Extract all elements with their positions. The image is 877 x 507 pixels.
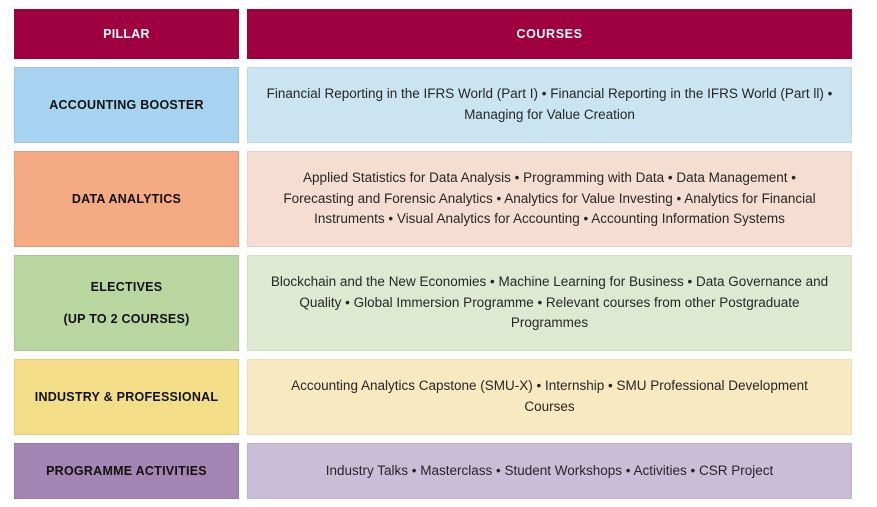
courses-cell-electives: Blockchain and the New Economies • Machi… (247, 255, 852, 351)
table-header-row: PILLAR COURSES (14, 9, 852, 59)
pillar-label: DATA ANALYTICS (72, 192, 181, 206)
pillar-label: ELECTIVES (91, 280, 163, 294)
table-header: PILLAR COURSES (14, 9, 852, 59)
table-row: DATA ANALYTICS Applied Statistics for Da… (14, 151, 852, 247)
pillar-sublabel: (UP TO 2 COURSES) (23, 310, 230, 328)
table-row: ACCOUNTING BOOSTER Financial Reporting i… (14, 67, 852, 143)
pillar-cell-electives: ELECTIVES (UP TO 2 COURSES) (14, 255, 239, 351)
table-row: ELECTIVES (UP TO 2 COURSES) Blockchain a… (14, 255, 852, 351)
courses-cell-programme-activities: Industry Talks • Masterclass • Student W… (247, 443, 852, 499)
pillar-cell-accounting-booster: ACCOUNTING BOOSTER (14, 67, 239, 143)
pillar-label: PROGRAMME ACTIVITIES (46, 464, 207, 478)
table-row: INDUSTRY & PROFESSIONAL Accounting Analy… (14, 359, 852, 435)
pillar-label: INDUSTRY & PROFESSIONAL (35, 390, 219, 404)
table-body: ACCOUNTING BOOSTER Financial Reporting i… (14, 67, 852, 499)
column-header-pillar: PILLAR (14, 9, 239, 59)
courses-cell-industry-professional: Accounting Analytics Capstone (SMU-X) • … (247, 359, 852, 435)
courses-cell-data-analytics: Applied Statistics for Data Analysis • P… (247, 151, 852, 247)
pillar-courses-table: PILLAR COURSES ACCOUNTING BOOSTER Financ… (6, 1, 860, 507)
table-row: PROGRAMME ACTIVITIES Industry Talks • Ma… (14, 443, 852, 499)
pillar-cell-industry-professional: INDUSTRY & PROFESSIONAL (14, 359, 239, 435)
courses-cell-accounting-booster: Financial Reporting in the IFRS World (P… (247, 67, 852, 143)
column-header-courses: COURSES (247, 9, 852, 59)
pillar-courses-table-container: PILLAR COURSES ACCOUNTING BOOSTER Financ… (0, 0, 877, 468)
pillar-label: ACCOUNTING BOOSTER (49, 98, 204, 112)
pillar-cell-data-analytics: DATA ANALYTICS (14, 151, 239, 247)
pillar-cell-programme-activities: PROGRAMME ACTIVITIES (14, 443, 239, 499)
